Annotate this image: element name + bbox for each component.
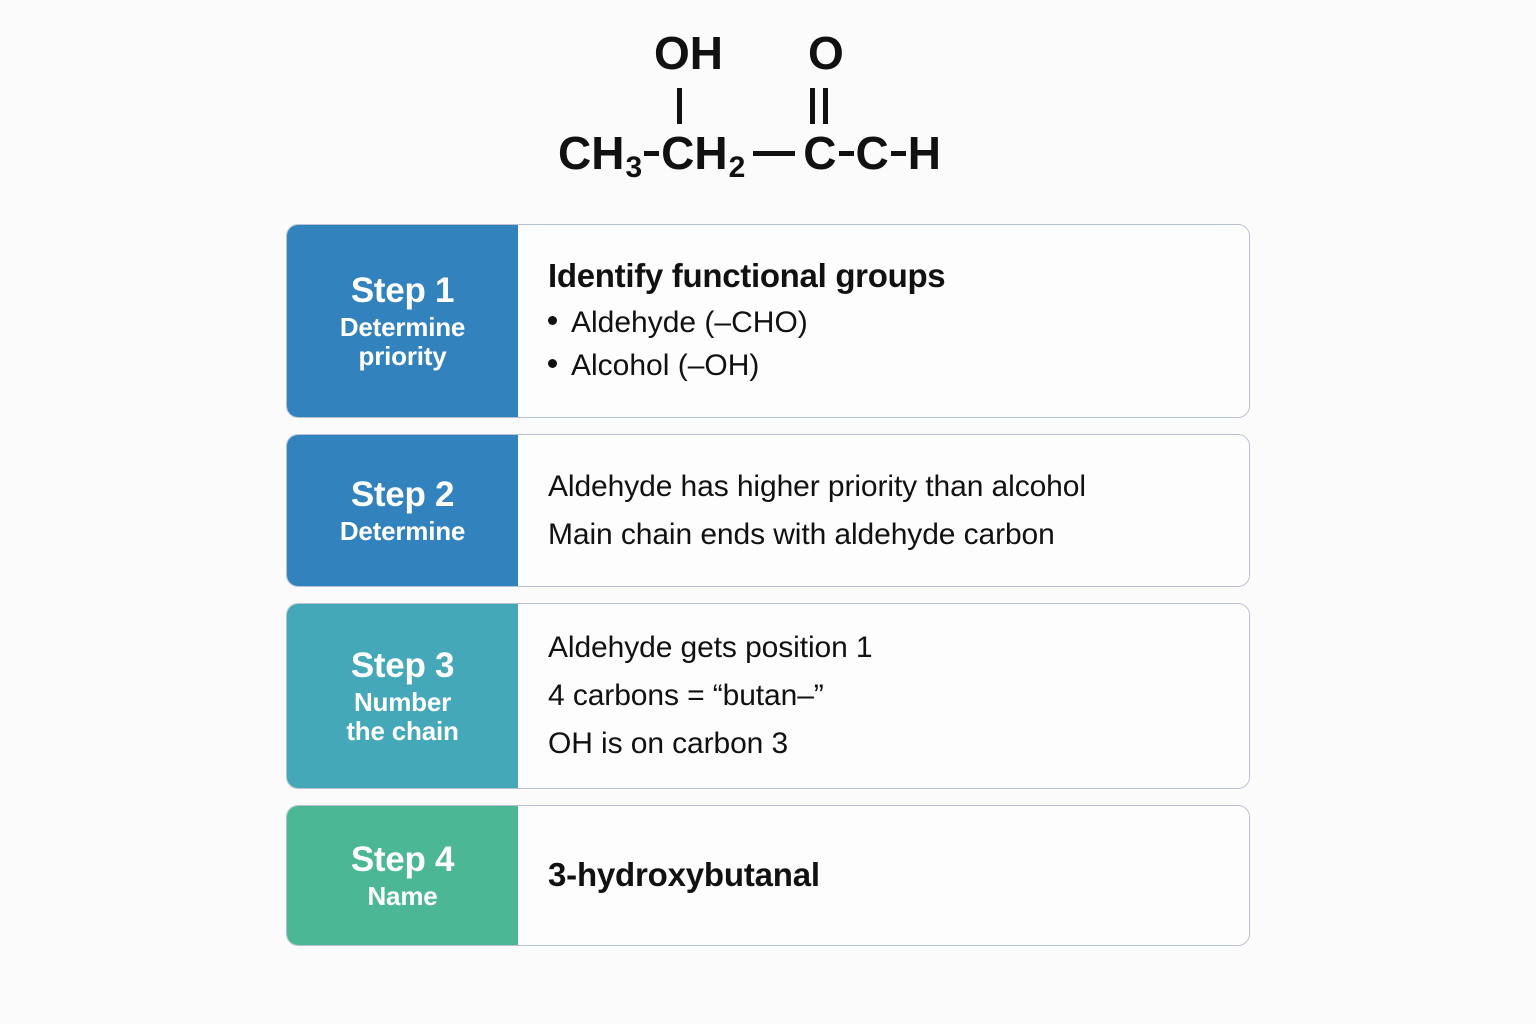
step-card-4: Step 4 Name 3-hydroxybutanal: [286, 805, 1250, 946]
step-card-2: Step 2 Determine Aldehyde has higher pri…: [286, 434, 1250, 587]
step-4-label-panel: Step 4 Name: [287, 806, 518, 945]
step-1-bullet-1: Aldehyde (–CHO): [548, 302, 1249, 345]
step-1-bullet-2: Alcohol (–OH): [548, 345, 1249, 388]
step-card-3: Step 3 Number the chain Aldehyde gets po…: [286, 603, 1250, 789]
step-4-subtitle: Name: [367, 882, 437, 911]
step-1-subtitle-line1: Determine: [340, 313, 465, 342]
step-3-line-3: OH is on carbon 3: [548, 720, 1249, 768]
step-1-title: Step 1: [351, 271, 454, 310]
step-1-label-panel: Step 1 Determine priority: [287, 225, 518, 417]
step-2-subtitle: Determine: [340, 517, 465, 546]
final-compound-name: 3-hydroxybutanal: [548, 852, 1249, 898]
step-3-subtitle-line1: Number: [354, 688, 451, 717]
carbonyl-oxygen-label: O: [808, 30, 844, 76]
atom-hydrogen: H: [908, 126, 941, 180]
bond-icon-long: [753, 151, 795, 156]
molecular-structure-diagram: OH O CH3CH2CCH: [0, 30, 1536, 205]
atom-carbonyl-carbon: C: [803, 126, 836, 180]
step-2-line-1: Aldehyde has higher priority than alcoho…: [548, 463, 1249, 511]
step-1-bullet-1-text: Aldehyde (–CHO): [571, 302, 808, 345]
double-bond-vertical-icon: [810, 88, 828, 124]
step-3-label-panel: Step 3 Number the chain: [287, 604, 518, 788]
subscript-2: 2: [729, 151, 746, 185]
molecule-main-chain: CH3CH2CCH: [558, 126, 941, 180]
bond-icon: [839, 151, 854, 156]
hydroxyl-label: OH: [654, 30, 723, 76]
step-1-subtitle-line2: priority: [359, 342, 447, 371]
step-1-headline: Identify functional groups: [548, 255, 1249, 296]
subscript-3: 3: [625, 151, 642, 185]
atom-ch2: CH: [661, 126, 727, 180]
bond-icon: [644, 151, 659, 156]
step-3-line-1: Aldehyde gets position 1: [548, 624, 1249, 672]
step-2-label-panel: Step 2 Determine: [287, 435, 518, 586]
step-3-line-2: 4 carbons = “butan–”: [548, 672, 1249, 720]
step-card-1: Step 1 Determine priority Identify funct…: [286, 224, 1250, 418]
bond-icon: [891, 151, 906, 156]
atom-aldehyde-carbon: C: [856, 126, 889, 180]
step-3-subtitle-line2: the chain: [346, 717, 458, 746]
step-2-line-2: Main chain ends with aldehyde carbon: [548, 511, 1249, 559]
step-4-title: Step 4: [351, 840, 454, 879]
step-1-content: Identify functional groups Aldehyde (–CH…: [518, 225, 1249, 417]
bullet-dot-icon: [548, 359, 557, 368]
step-3-content: Aldehyde gets position 1 4 carbons = “bu…: [518, 604, 1249, 788]
step-2-title: Step 2: [351, 475, 454, 514]
bullet-dot-icon: [548, 316, 557, 325]
steps-list: Step 1 Determine priority Identify funct…: [286, 224, 1250, 962]
step-4-content: 3-hydroxybutanal: [518, 806, 1249, 945]
single-bond-vertical-icon: [677, 88, 682, 124]
step-2-content: Aldehyde has higher priority than alcoho…: [518, 435, 1249, 586]
atom-ch3: CH: [558, 126, 624, 180]
step-1-bullet-2-text: Alcohol (–OH): [571, 345, 759, 388]
step-3-title: Step 3: [351, 646, 454, 685]
